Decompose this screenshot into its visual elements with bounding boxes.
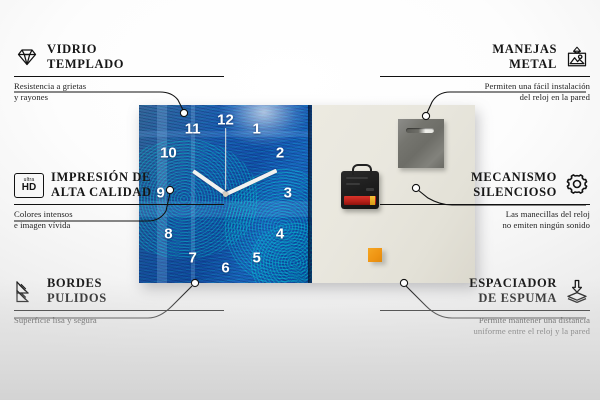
gear-icon — [564, 172, 590, 198]
press-down-pad-icon — [564, 278, 590, 304]
feature-desc-line2: y rayones — [14, 92, 48, 102]
clock-numeral-10: 10 — [160, 146, 177, 161]
feature-description: Resistencia a grietas y rayones — [14, 81, 224, 104]
feature-title: MANEJAS METAL — [492, 42, 557, 73]
feature-description: Colores intensos e imagen vívida — [14, 209, 224, 232]
clock-numeral-12: 12 — [217, 113, 234, 128]
clock-numeral-2: 2 — [276, 146, 284, 161]
feature-heading-row: VIDRIO TEMPLADO — [14, 42, 224, 73]
mechanism-detail — [346, 177, 368, 179]
feature-bordes-pulidos: BORDES PULIDOS Superficie lisa y segura — [14, 276, 224, 326]
feature-desc-line1: Permite mantener una distancia — [479, 315, 590, 325]
feature-title: IMPRESIÓN DE ALTA CALIDAD — [51, 170, 152, 201]
feature-title: MECANISMO SILENCIOSO — [471, 170, 557, 201]
feature-title-line1: ESPACIADOR — [469, 276, 557, 290]
feature-divider — [14, 204, 224, 205]
feature-description: Permiten una fácil instalación del reloj… — [380, 81, 590, 104]
feature-desc-line2: no emiten ningún sonido — [502, 220, 590, 230]
battery-terminal — [370, 196, 375, 205]
hanger-keyhole-slot — [406, 128, 434, 133]
feature-divider — [380, 76, 590, 77]
foam-spacer — [368, 248, 382, 262]
mechanism-hanging-loop — [352, 164, 372, 175]
feature-desc-line2: e imagen vívida — [14, 220, 70, 230]
feature-desc-line1: Superficie lisa y segura — [14, 315, 97, 325]
clock-mechanism — [341, 171, 379, 209]
feature-heading-row: ESPACIADOR DE ESPUMA — [380, 276, 590, 307]
feature-title-line2: PULIDOS — [47, 291, 107, 305]
metal-hanger-plate — [398, 119, 444, 168]
feature-title: ESPACIADOR DE ESPUMA — [469, 276, 557, 307]
clock-second-hand — [225, 128, 226, 190]
feature-title-line2: DE ESPUMA — [478, 291, 557, 305]
feature-vidrio-templado: VIDRIO TEMPLADO Resistencia a grietas y … — [14, 42, 224, 104]
feature-title: BORDES PULIDOS — [47, 276, 107, 307]
feature-manejas-metal: MANEJAS METAL Permiten una fácil instala… — [380, 42, 590, 104]
feature-heading-row: MECANISMO SILENCIOSO — [380, 170, 590, 201]
feature-description: Permite mantener una distancia uniforme … — [380, 315, 590, 338]
feature-title-line2: METAL — [509, 57, 557, 71]
feature-title-line1: VIDRIO — [47, 42, 97, 56]
feature-title-line1: BORDES — [47, 276, 102, 290]
feature-heading-row: BORDES PULIDOS — [14, 276, 224, 307]
feature-desc-line1: Resistencia a grietas — [14, 81, 86, 91]
ultra-hd-icon: ultra HD — [14, 173, 44, 198]
mechanism-detail — [346, 183, 360, 185]
feature-title-line2: ALTA CALIDAD — [51, 185, 152, 199]
clock-numeral-6: 6 — [221, 261, 229, 276]
feature-heading-row: ultra HD IMPRESIÓN DE ALTA CALIDAD — [14, 170, 224, 201]
feature-desc-line2: del reloj en la pared — [520, 92, 590, 102]
feature-description: Superficie lisa y segura — [14, 315, 224, 327]
feature-title-line1: MANEJAS — [492, 42, 557, 56]
feature-title-line2: SILENCIOSO — [473, 185, 557, 199]
feature-desc-line1: Permiten una fácil instalación — [485, 81, 590, 91]
feature-divider — [14, 310, 224, 311]
infographic-canvas: 12 1 2 3 4 5 6 7 8 9 10 11 — [0, 0, 600, 400]
feature-espaciador-de-espuma: ESPACIADOR DE ESPUMA Permite mantener un… — [380, 276, 590, 338]
hanging-picture-icon — [564, 44, 590, 70]
feature-description: Las manecillas del reloj no emiten ningú… — [380, 209, 590, 232]
feature-desc-line1: Colores intensos — [14, 209, 73, 219]
feature-title-line1: MECANISMO — [471, 170, 557, 184]
feature-title-line1: IMPRESIÓN DE — [51, 170, 151, 184]
clock-numeral-1: 1 — [252, 122, 260, 137]
ultra-hd-large-text: HD — [22, 183, 36, 193]
feature-desc-line1: Las manecillas del reloj — [506, 209, 590, 219]
clock-numeral-11: 11 — [185, 122, 201, 137]
feature-title: VIDRIO TEMPLADO — [47, 42, 124, 73]
polished-edges-icon — [14, 278, 40, 304]
feature-divider — [14, 76, 224, 77]
feature-mecanismo-silencioso: MECANISMO SILENCIOSO Las manecillas del … — [380, 170, 590, 232]
clock-numeral-4: 4 — [276, 227, 284, 242]
feature-divider — [380, 310, 590, 311]
clock-numeral-5: 5 — [252, 251, 260, 266]
diamond-icon — [14, 44, 40, 70]
feature-title-line2: TEMPLADO — [47, 57, 124, 71]
feature-desc-line2: uniforme entre el reloj y la pared — [474, 326, 591, 336]
feature-impresion-alta-calidad: ultra HD IMPRESIÓN DE ALTA CALIDAD Color… — [14, 170, 224, 232]
feature-heading-row: MANEJAS METAL — [380, 42, 590, 73]
clock-numeral-3: 3 — [284, 186, 292, 201]
mechanism-detail — [366, 188, 374, 191]
clock-numeral-7: 7 — [188, 251, 196, 266]
feature-divider — [380, 204, 590, 205]
